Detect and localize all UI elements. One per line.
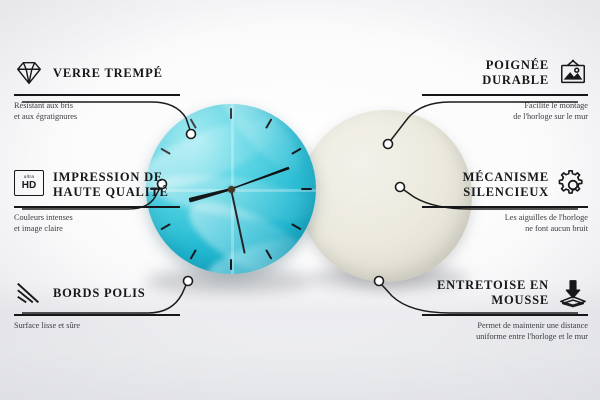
feature-description: Résistant aux bris et aux égratignures [14,100,180,124]
feature-title: POIGNÉE DURABLE [422,58,549,88]
feature-header: ultra HD IMPRESSION DE HAUTE QUALITÉ [14,168,180,202]
feature-description: Les aiguilles de l'horloge ne font aucun… [422,212,588,236]
feature-description: Permet de maintenir une distance uniform… [422,320,588,344]
feature-poignee-durable[interactable]: POIGNÉE DURABLE Facilite le montage de l… [422,56,588,123]
ultra-hd-icon: ultra HD [14,170,44,200]
feature-header: ENTRETOISE EN MOUSSE [422,276,588,310]
feature-divider [14,206,180,208]
feature-title: VERRE TREMPÉ [53,66,163,81]
feature-entretoise-en-mousse[interactable]: ENTRETOISE EN MOUSSE Permet de maintenir… [422,276,588,343]
feature-header: VERRE TREMPÉ [14,56,180,90]
feature-divider [14,94,180,96]
foam-spacer-icon [558,278,588,308]
feature-divider [14,314,180,316]
feature-impression-hd[interactable]: ultra HD IMPRESSION DE HAUTE QUALITÉ Cou… [14,168,180,235]
feature-title: IMPRESSION DE HAUTE QUALITÉ [53,170,180,200]
feature-divider [422,94,588,96]
ultra-hd-icon-main-label: HD [22,181,36,191]
feature-header: POIGNÉE DURABLE [422,56,588,90]
feature-description: Facilite le montage de l'horloge sur le … [422,100,588,124]
gear-icon [558,170,588,200]
infographic-stage: VERRE TREMPÉ Résistant aux bris et aux é… [0,0,600,400]
feature-title: MÉCANISME SILENCIEUX [422,170,549,200]
feature-verre-trempe[interactable]: VERRE TREMPÉ Résistant aux bris et aux é… [14,56,180,123]
feature-mecanisme-silencieux[interactable]: MÉCANISME SILENCIEUX Les aiguilles de l'… [422,168,588,235]
feature-bords-polis[interactable]: BORDS POLIS Surface lisse et sûre [14,276,180,331]
feature-header: BORDS POLIS [14,276,180,310]
feature-title: ENTRETOISE EN MOUSSE [422,278,549,308]
feature-description: Surface lisse et sûre [14,320,180,332]
feature-divider [422,314,588,316]
polished-edges-icon [14,278,44,308]
feature-divider [422,206,588,208]
diamond-icon [14,58,44,88]
feature-header: MÉCANISME SILENCIEUX [422,168,588,202]
hanging-frame-icon [558,58,588,88]
feature-title: BORDS POLIS [53,286,146,301]
feature-description: Couleurs intenses et image claire [14,212,180,236]
